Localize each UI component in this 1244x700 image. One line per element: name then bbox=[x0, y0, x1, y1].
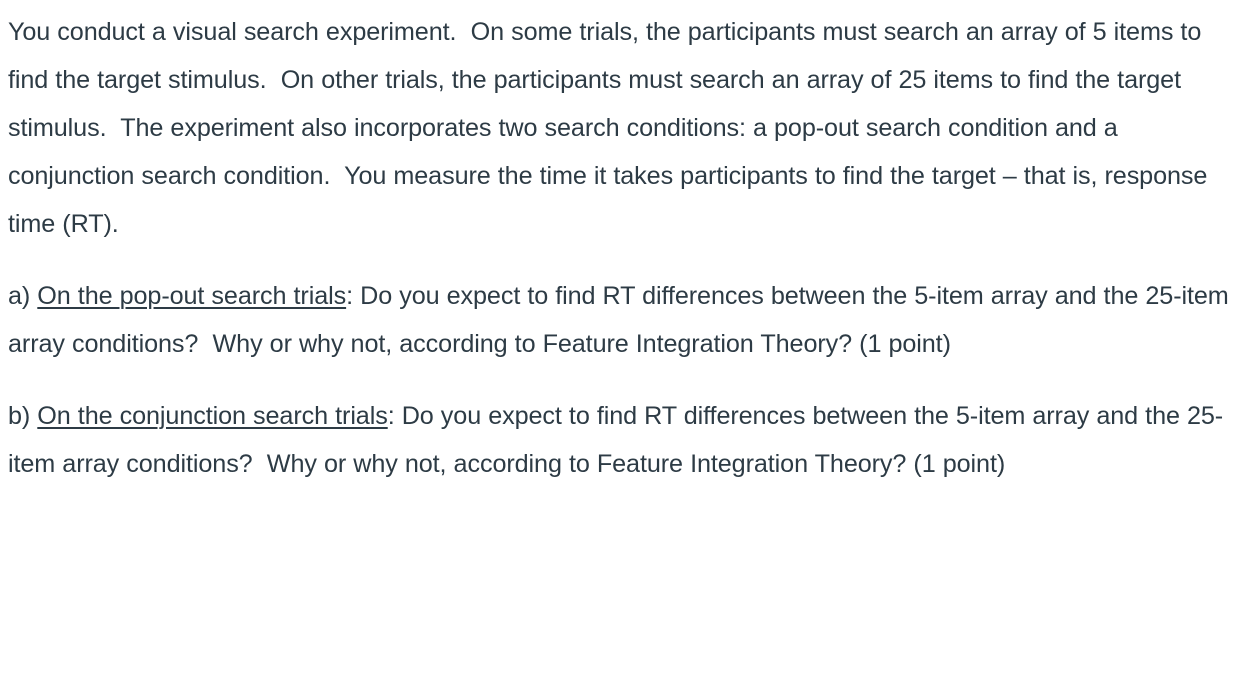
question-part-b: b) On the conjunction search trials: Do … bbox=[8, 392, 1230, 488]
question-part-a: a) On the pop-out search trials: Do you … bbox=[8, 272, 1230, 368]
part-b-marker: b) bbox=[8, 402, 37, 430]
part-b-lead-in: On the conjunction search trials bbox=[37, 402, 387, 430]
part-a-lead-in: On the pop-out search trials bbox=[37, 282, 346, 310]
part-a-marker: a) bbox=[8, 282, 37, 310]
intro-paragraph: You conduct a visual search experiment. … bbox=[8, 8, 1230, 248]
question-body: You conduct a visual search experiment. … bbox=[0, 0, 1244, 700]
